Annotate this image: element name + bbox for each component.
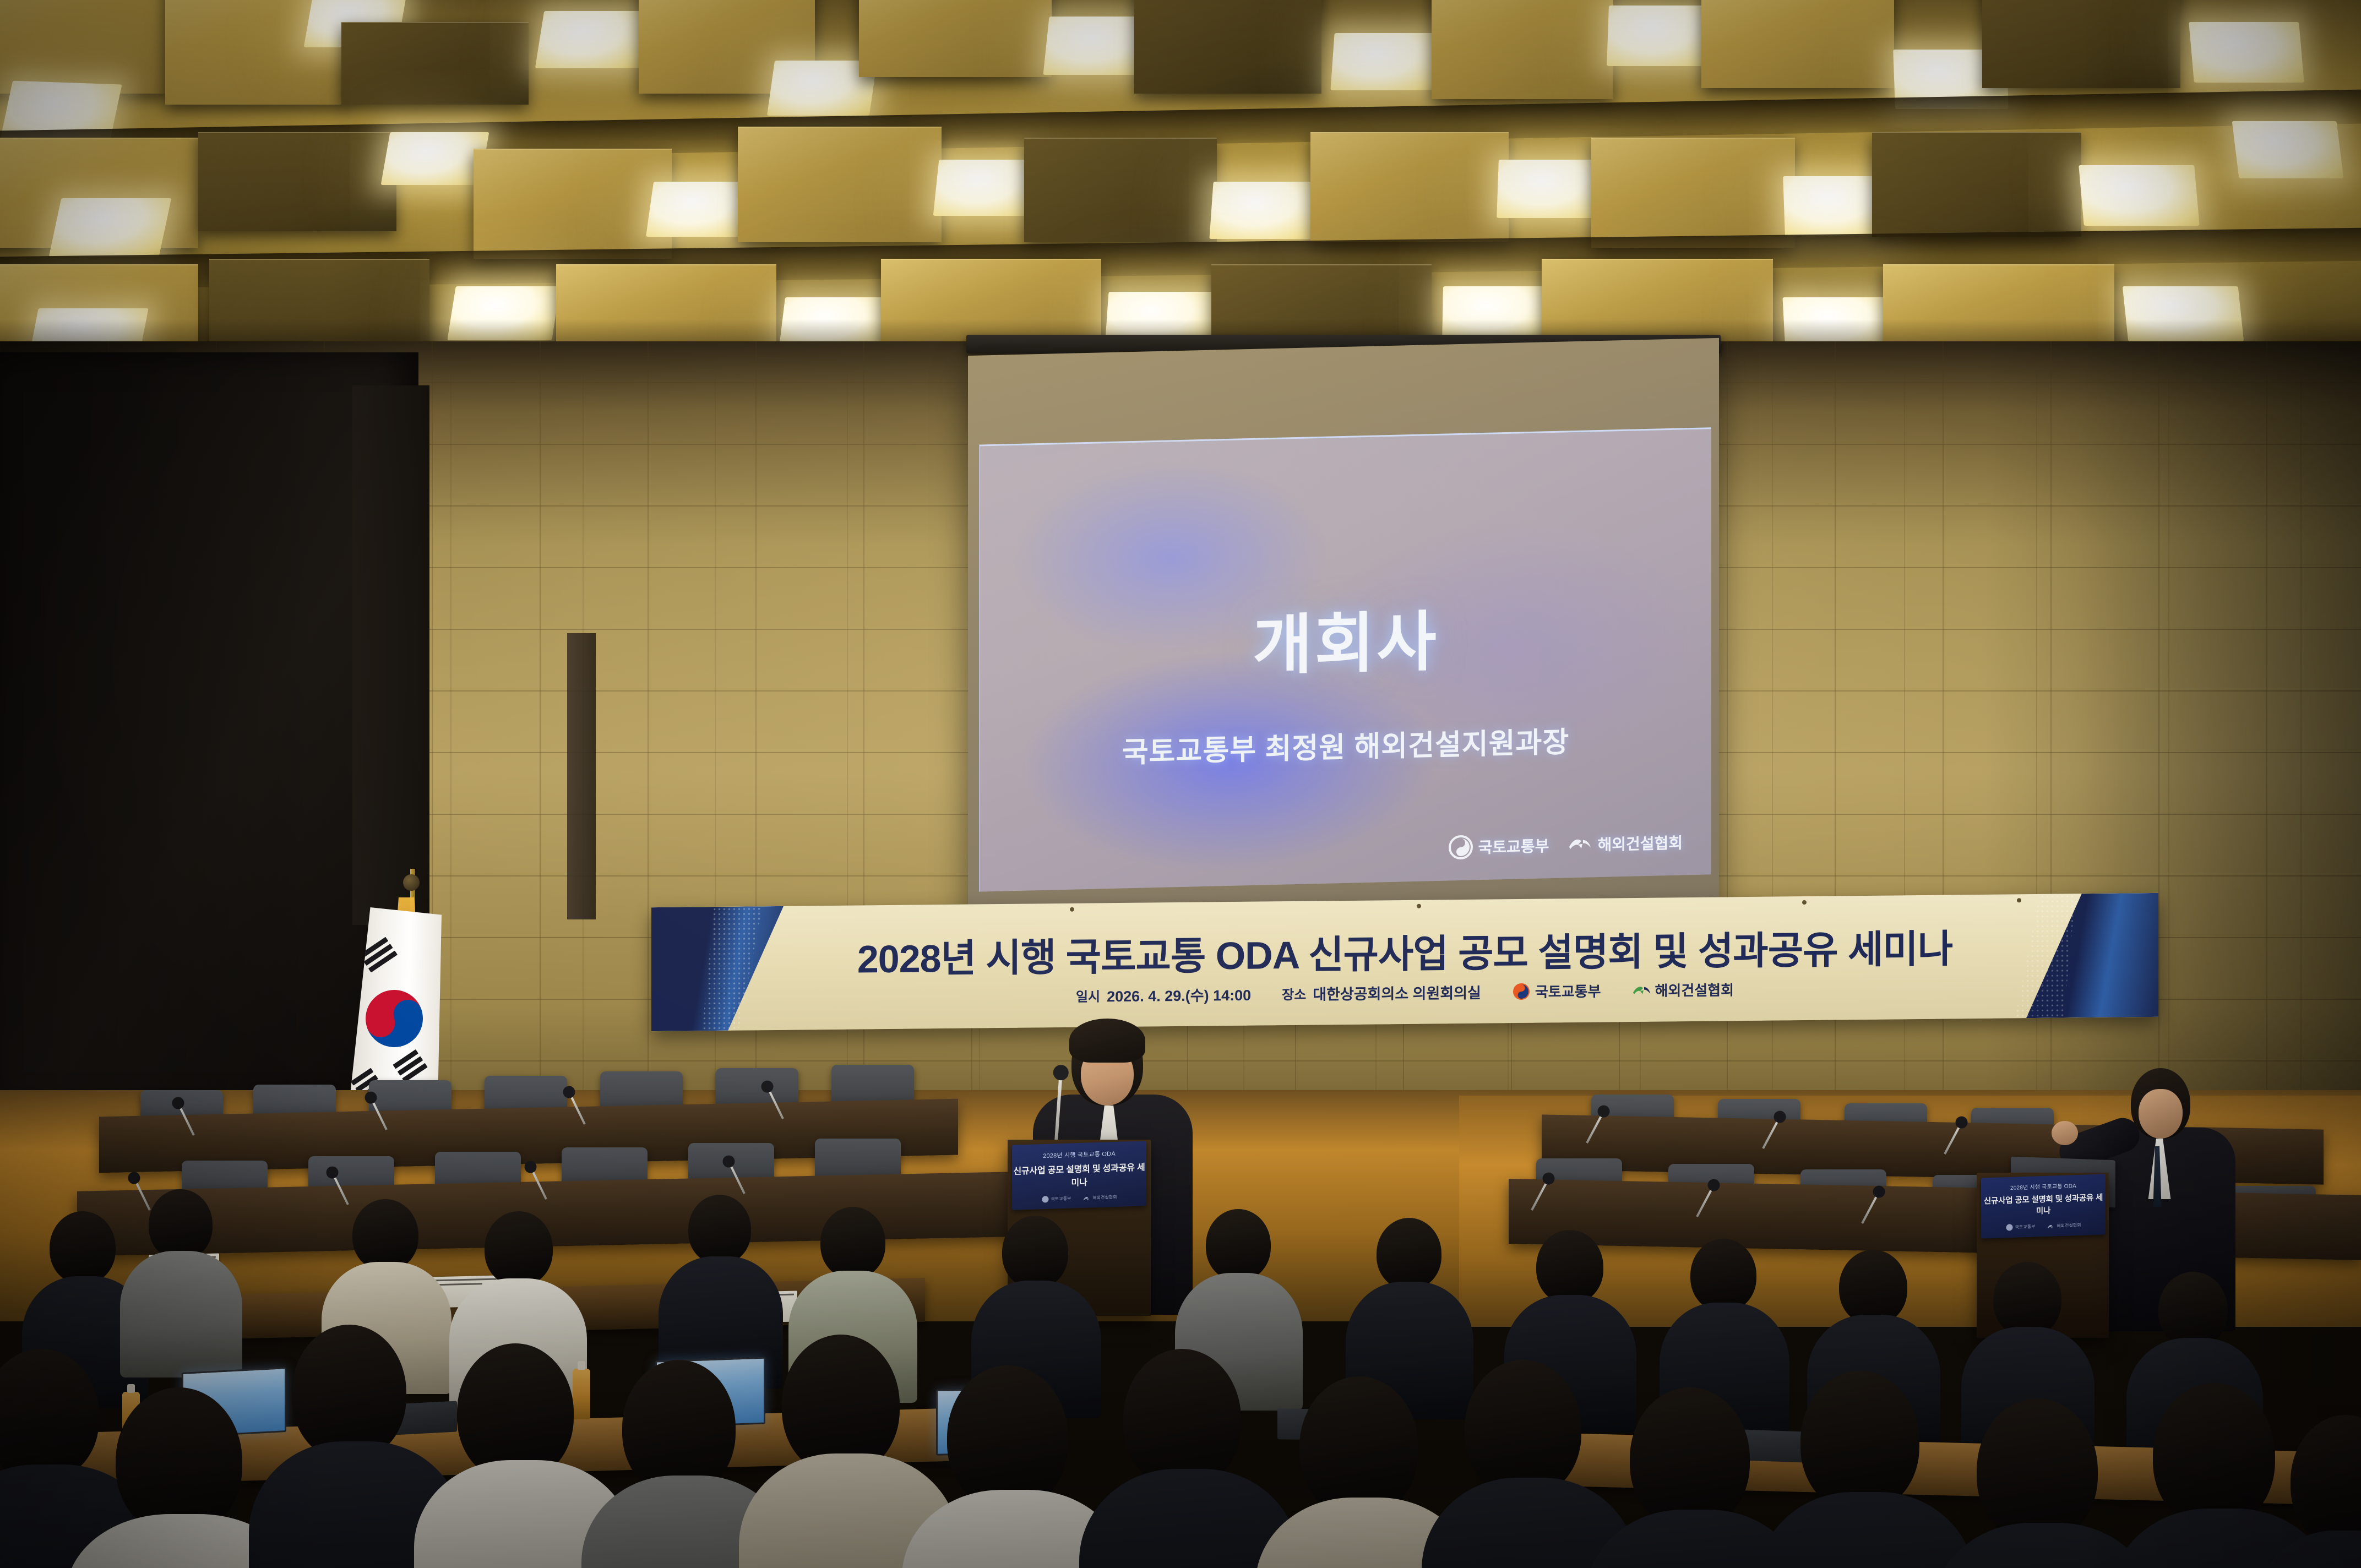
slide-title: 개회사 — [980, 582, 1711, 693]
projected-slide: 개회사 국토교통부 최정원 해외건설지원과장 국토교통부 — [979, 427, 1711, 891]
slide-logo-icak: 해외건설협회 — [1568, 830, 1683, 857]
slide-logo-molit-label: 국토교통부 — [1478, 834, 1549, 858]
projection-screen: 개회사 국토교통부 최정원 해외건설지원과장 국토교통부 — [968, 338, 1719, 920]
banner-venue-value: 대한상공회의소 의원회의실 — [1313, 981, 1481, 1004]
flag-finial — [403, 874, 420, 891]
speaker-hair — [1069, 1019, 1145, 1063]
banner-venue-label: 장소 — [1282, 984, 1306, 1003]
podium-sign-line1: 2028년 시행 국토교통 ODA — [1012, 1148, 1146, 1161]
slide-logo-molit: 국토교통부 — [1449, 833, 1549, 859]
banner-logo-molit: 국토교통부 — [1512, 981, 1601, 1002]
overseas-construction-icon — [1632, 981, 1651, 999]
banner-date-value: 2026. 4. 29.(수) 14:00 — [1107, 983, 1251, 1006]
banner-date-label: 일시 — [1076, 986, 1100, 1005]
water-bottle — [573, 1369, 590, 1419]
banner-logo-molit-label: 국토교통부 — [1535, 981, 1601, 1001]
auditorium-photo: 개회사 국토교통부 최정원 해외건설지원과장 국토교통부 — [0, 0, 2361, 1568]
taegeuk-swirl-icon — [1512, 982, 1531, 1000]
taegeuk-swirl-icon — [1449, 835, 1473, 859]
banner-venue: 장소 대한상공회의소 의원회의실 — [1282, 981, 1481, 1004]
slide-logo-row: 국토교통부 해외건설협회 — [1449, 830, 1683, 859]
banner-logo-icak: 해외건설협회 — [1632, 979, 1734, 1000]
taeguk-circle — [358, 982, 430, 1054]
presenter-hand — [2052, 1121, 2078, 1145]
event-banner: 2028년 시행 국토교통 ODA 신규사업 공모 설명회 및 성과공유 세미나… — [651, 893, 2158, 1031]
banner-title: 2028년 시행 국토교통 ODA 신규사업 공모 설명회 및 성과공유 세미나 — [651, 916, 2158, 986]
slide-logo-icak-label: 해외건설협회 — [1597, 831, 1683, 855]
coffered-ceiling — [0, 0, 2361, 385]
banner-date: 일시 2026. 4. 29.(수) 14:00 — [1076, 983, 1251, 1006]
slide-subtitle: 국토교통부 최정원 해외건설지원과장 — [980, 715, 1711, 774]
presenter-face — [2139, 1089, 2183, 1139]
wall-pilaster — [567, 633, 596, 919]
dark-wall-panel-left-inner — [352, 385, 429, 925]
banner-logo-icak-label: 해외건설협회 — [1655, 979, 1734, 1000]
overseas-construction-icon — [1568, 832, 1592, 857]
audience-area — [0, 1184, 2361, 1568]
